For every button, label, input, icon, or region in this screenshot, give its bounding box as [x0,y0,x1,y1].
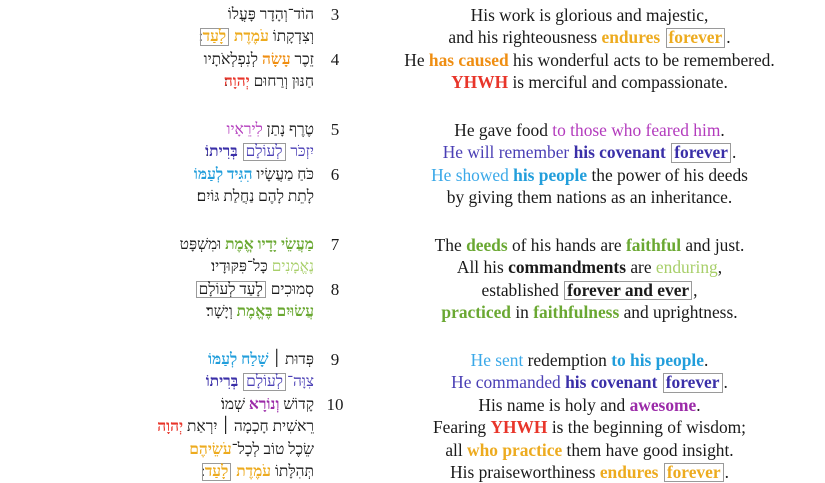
text-segment: the power of his deeds [587,165,748,185]
text-segment: his covenant [565,372,657,392]
text-segment: בְּרִיתוֹ [205,143,238,160]
verse-number: 8 [318,279,352,301]
verse-number: 4 [318,49,352,71]
english-10d: His praiseworthiness endures forever. [354,461,825,483]
text-segment: . [696,395,700,415]
text-segment: is merciful and compassionate. [508,72,728,92]
text-segment: יִזְכֹּר [287,143,314,160]
highlighted-boxed-phrase: לָעַד [202,463,231,481]
text-segment: faithful [626,235,681,255]
text-segment: redemption [523,350,611,370]
text-segment: עֲשׂוּיִם [273,303,314,320]
text-segment: סְמוּכִים [267,281,314,298]
text-segment: awesome [630,395,697,415]
verse-number [318,461,352,483]
hebrew-7b: נֶאֱמָנִים כָּל־פִּקּוּדָיו׃ [0,256,314,278]
english-column: He gave food to those who feared him.He … [352,119,825,209]
text-segment: אֱמֶת [221,236,253,253]
stanza-2: טֶרֶף נָתַן לִירֵאָיויִזְכֹּר לְעוֹלָם ב… [0,119,825,209]
text-segment: has caused [429,50,509,70]
text-segment: and his righteousness [448,27,601,47]
text-segment: . [720,120,724,140]
text-segment: תְּהִלָּתוֹ [271,463,314,480]
stanza-3: מַעֲשֵׂי יָדָיו אֱמֶת וּמִשְׁפָּטנֶאֱמָנ… [0,234,825,324]
text-segment: . [732,142,736,162]
text-segment: , [718,257,722,277]
text-segment: . [726,27,730,47]
highlighted-boxed-phrase: forever [664,463,724,482]
highlighted-boxed-phrase: לָעַד לְעוֹלָם [196,281,266,299]
text-segment: , [693,280,697,300]
text-segment [666,142,670,162]
hebrew-3b: וְצִדְקָתוֹ עֹמֶדֶת לָעַד׃ [0,26,314,48]
text-segment: לְנִפְלְאֹתָיו [204,51,258,68]
verse-number: 9 [318,349,352,371]
text-segment: עֹמֶדֶת [232,463,271,480]
hebrew-column: פְּדוּת ׀ שָׁלַח לְעַמּוֹצִוָּה־לְעוֹלָם… [0,349,318,483]
english-7a: The deeds of his hands are faithful and … [354,234,825,256]
text-segment: of his hands are [508,235,626,255]
text-segment: עָשָׂה [258,51,291,68]
text-segment: The [435,235,466,255]
text-segment: all [445,440,467,460]
english-9a: He sent redemption to his people. [354,349,825,371]
text-segment: His praiseworthiness [450,462,600,482]
highlighted-boxed-phrase: forever and ever [564,281,692,300]
english-3a: His work is glorious and majestic, [354,4,825,26]
text-segment: רֵאשִׁית חָכְמָה ׀ יִרְאַת [183,418,314,435]
verse-number [318,416,352,438]
verse-number [318,301,352,323]
text-segment: שֵׂכֶל טוֹב לְכָל־ [232,441,314,458]
text-segment: YHWH [490,417,547,437]
text-segment: by giving them nations as an inheritance… [447,187,732,207]
english-10c: all who practice them have good insight. [354,439,825,461]
text-segment: בְּרִיתוֹ [206,373,239,390]
text-segment: . [704,350,708,370]
english-column: The deeds of his hands are faithful and … [352,234,825,324]
text-segment: חַנּוּן וְרַחוּם [250,73,314,90]
verse-number-column: 78 [318,234,352,324]
highlighted-boxed-phrase: לְעוֹלָם [243,373,286,391]
hebrew-6a: כֹּחַ מַעֲשָׂיו הִגִּיד לְעַמּוֹ [0,164,314,186]
english-8a: established forever and ever, [354,279,825,301]
text-segment: He will remember [443,142,574,162]
text-segment: לִירֵאָיו [227,121,263,138]
text-segment: All his [457,257,508,277]
highlighted-boxed-phrase: לָעַד [200,28,229,46]
text-segment: faithfulness [533,302,619,322]
english-7b: All his commandments are enduring, [354,256,825,278]
hebrew-10a: קָדוֹשׁ וְנוֹרָא שְׁמוֹ׃ [0,394,314,416]
text-segment: practiced [441,302,511,322]
verse-number: 3 [318,4,352,26]
text-segment: endures [600,462,659,482]
text-segment: His name is holy and [478,395,629,415]
hebrew-10c: שֵׂכֶל טוֹב לְכָל־עֹשֵׂיהֶם [0,439,314,461]
stanza-4: פְּדוּת ׀ שָׁלַח לְעַמּוֹצִוָּה־לְעוֹלָם… [0,349,825,483]
verse-number: 5 [318,119,352,141]
text-segment: קָדוֹשׁ [279,396,314,413]
text-segment: וְיָשָׁר [206,303,233,320]
text-segment: them have good insight. [562,440,733,460]
english-6a: He showed his people the power of his de… [354,164,825,186]
text-segment: שָׁלַח לְעַמּוֹ [208,351,268,368]
text-segment: deeds [466,235,508,255]
text-segment [658,462,662,482]
hebrew-9b: צִוָּה־לְעוֹלָם בְּרִיתוֹ [0,371,314,393]
hebrew-3a: הוֹד־וְהָדָר פָּעֳלוֹ [0,4,314,26]
text-segment: וְנוֹרָא [249,396,280,413]
verse-number [318,71,352,93]
english-5a: He gave food to those who feared him. [354,119,825,141]
verse-number-column: 910 [318,349,352,483]
english-10b: Fearing YHWH is the beginning of wisdom; [354,416,825,438]
hebrew-10b: רֵאשִׁית חָכְמָה ׀ יִרְאַת יְהוָה [0,416,314,438]
hebrew-5b: יִזְכֹּר לְעוֹלָם בְּרִיתוֹ׃ [0,141,314,163]
text-segment: וְצִדְקָתוֹ [269,28,314,45]
text-segment: He [404,50,429,70]
english-10a: His name is holy and awesome. [354,394,825,416]
hebrew-10d: תְּהִלָּתוֹ עֹמֶדֶת לָעַד׃ [0,461,314,483]
text-segment: נֶאֱמָנִים [268,258,314,275]
hebrew-4b: חַנּוּן וְרַחוּם יְהוָה׃ [0,71,314,93]
verse-number [318,256,352,278]
hebrew-6b: לָתֵת לָהֶם נַחֲלַת גּוֹיִם׃ [0,186,314,208]
hebrew-8b: עֲשׂוּיִם בֶּאֱמֶת וְיָשָׁר׃ [0,301,314,323]
text-segment: and just. [681,235,744,255]
text-segment: עֹמֶדֶת [230,28,269,45]
text-segment: is the beginning of wisdom; [547,417,746,437]
text-segment: He showed [431,165,513,185]
text-segment: He sent [471,350,524,370]
text-segment [657,372,661,392]
english-column: He sent redemption to his people.He comm… [352,349,825,483]
highlighted-boxed-phrase: forever [666,28,726,47]
english-9b: He commanded his covenant forever. [354,371,825,393]
psalm-parallel-text-page: הוֹד־וְהָדָר פָּעֳלוֹוְצִדְקָתוֹ עֹמֶדֶת… [0,0,825,483]
text-segment: הוֹד־וְהָדָר פָּעֳלוֹ [228,6,314,23]
hebrew-4a: זֵכֶר עָשָׂה לְנִפְלְאֹתָיו [0,49,314,71]
text-segment [238,373,242,390]
hebrew-7a: מַעֲשֵׂי יָדָיו אֱמֶת וּמִשְׁפָּט [0,234,314,256]
text-segment [238,143,242,160]
highlighted-boxed-phrase: forever [671,143,731,162]
text-segment: are [626,257,656,277]
stanza-1: הוֹד־וְהָדָר פָּעֳלוֹוְצִדְקָתוֹ עֹמֶדֶת… [0,4,825,94]
highlighted-boxed-phrase: forever [663,373,723,392]
text-segment: לָתֵת לָהֶם נַחֲלַת גּוֹיִם [197,188,314,205]
text-segment: כֹּחַ מַעֲשָׂיו [253,166,314,183]
verse-number [318,26,352,48]
text-segment: שְׁמוֹ [221,396,249,413]
hebrew-5a: טֶרֶף נָתַן לִירֵאָיו [0,119,314,141]
text-segment: He gave food [454,120,552,140]
highlighted-boxed-phrase: לְעוֹלָם [243,143,286,161]
text-segment: . [724,372,728,392]
hebrew-8a: סְמוּכִים לָעַד לְעוֹלָם [0,279,314,301]
text-segment: YHWH [451,72,508,92]
verse-number-column: 34 [318,4,352,94]
verse-number [318,439,352,461]
text-segment: עֹשֵׂיהֶם [189,441,231,458]
text-segment: endures [602,27,661,47]
english-6b: by giving them nations as an inheritance… [354,186,825,208]
text-segment: his people [513,165,587,185]
hebrew-column: מַעֲשֵׂי יָדָיו אֱמֶת וּמִשְׁפָּטנֶאֱמָנ… [0,234,318,324]
verse-number [318,141,352,163]
hebrew-column: טֶרֶף נָתַן לִירֵאָיויִזְכֹּר לְעוֹלָם ב… [0,119,318,209]
text-segment: Fearing [433,417,490,437]
verse-number: 7 [318,234,352,256]
hebrew-column: הוֹד־וְהָדָר פָּעֳלוֹוְצִדְקָתוֹ עֹמֶדֶת… [0,4,318,94]
text-segment: and uprightness. [619,302,737,322]
verse-number [318,371,352,393]
text-segment: צִוָּה־ [287,373,314,390]
text-segment: commandments [508,257,626,277]
text-segment: His work is glorious and majestic, [471,5,709,25]
text-segment: who practice [467,440,562,460]
english-column: His work is glorious and majestic,and hi… [352,4,825,94]
text-segment: בֶּאֱמֶת [233,303,273,320]
text-segment: . [725,462,729,482]
english-8b: practiced in faithfulness and uprightnes… [354,301,825,323]
verse-number: 6 [318,164,352,186]
text-segment: זֵכֶר [291,51,314,68]
text-segment: to those who feared him [552,120,720,140]
text-segment: טֶרֶף נָתַן [263,121,314,138]
text-segment [660,27,664,47]
text-segment: in [511,302,533,322]
text-segment: יְהוָה [224,73,250,90]
text-segment: He commanded [451,372,565,392]
text-segment: פְּדוּת ׀ [269,351,314,368]
verse-number-column: 56 [318,119,352,209]
text-segment: his wonderful acts to be remembered. [509,50,775,70]
english-4b: YHWH is merciful and compassionate. [354,71,825,93]
hebrew-9a: פְּדוּת ׀ שָׁלַח לְעַמּוֹ [0,349,314,371]
text-segment: מַעֲשֵׂי יָדָיו [254,236,314,253]
text-segment: יְהוָה [157,418,183,435]
text-segment: enduring [656,257,718,277]
text-segment: to his people [611,350,704,370]
english-3b: and his righteousness endures forever. [354,26,825,48]
text-segment: his covenant [574,142,666,162]
text-segment: כָּל־פִּקּוּדָיו [211,258,268,275]
verse-number: 10 [318,394,352,416]
verse-number [318,186,352,208]
english-4a: He has caused his wonderful acts to be r… [354,49,825,71]
text-segment: established [482,280,564,300]
english-5b: He will remember his covenant forever. [354,141,825,163]
text-segment: הִגִּיד לְעַמּוֹ [194,166,253,183]
text-segment: וּמִשְׁפָּט [180,236,222,253]
